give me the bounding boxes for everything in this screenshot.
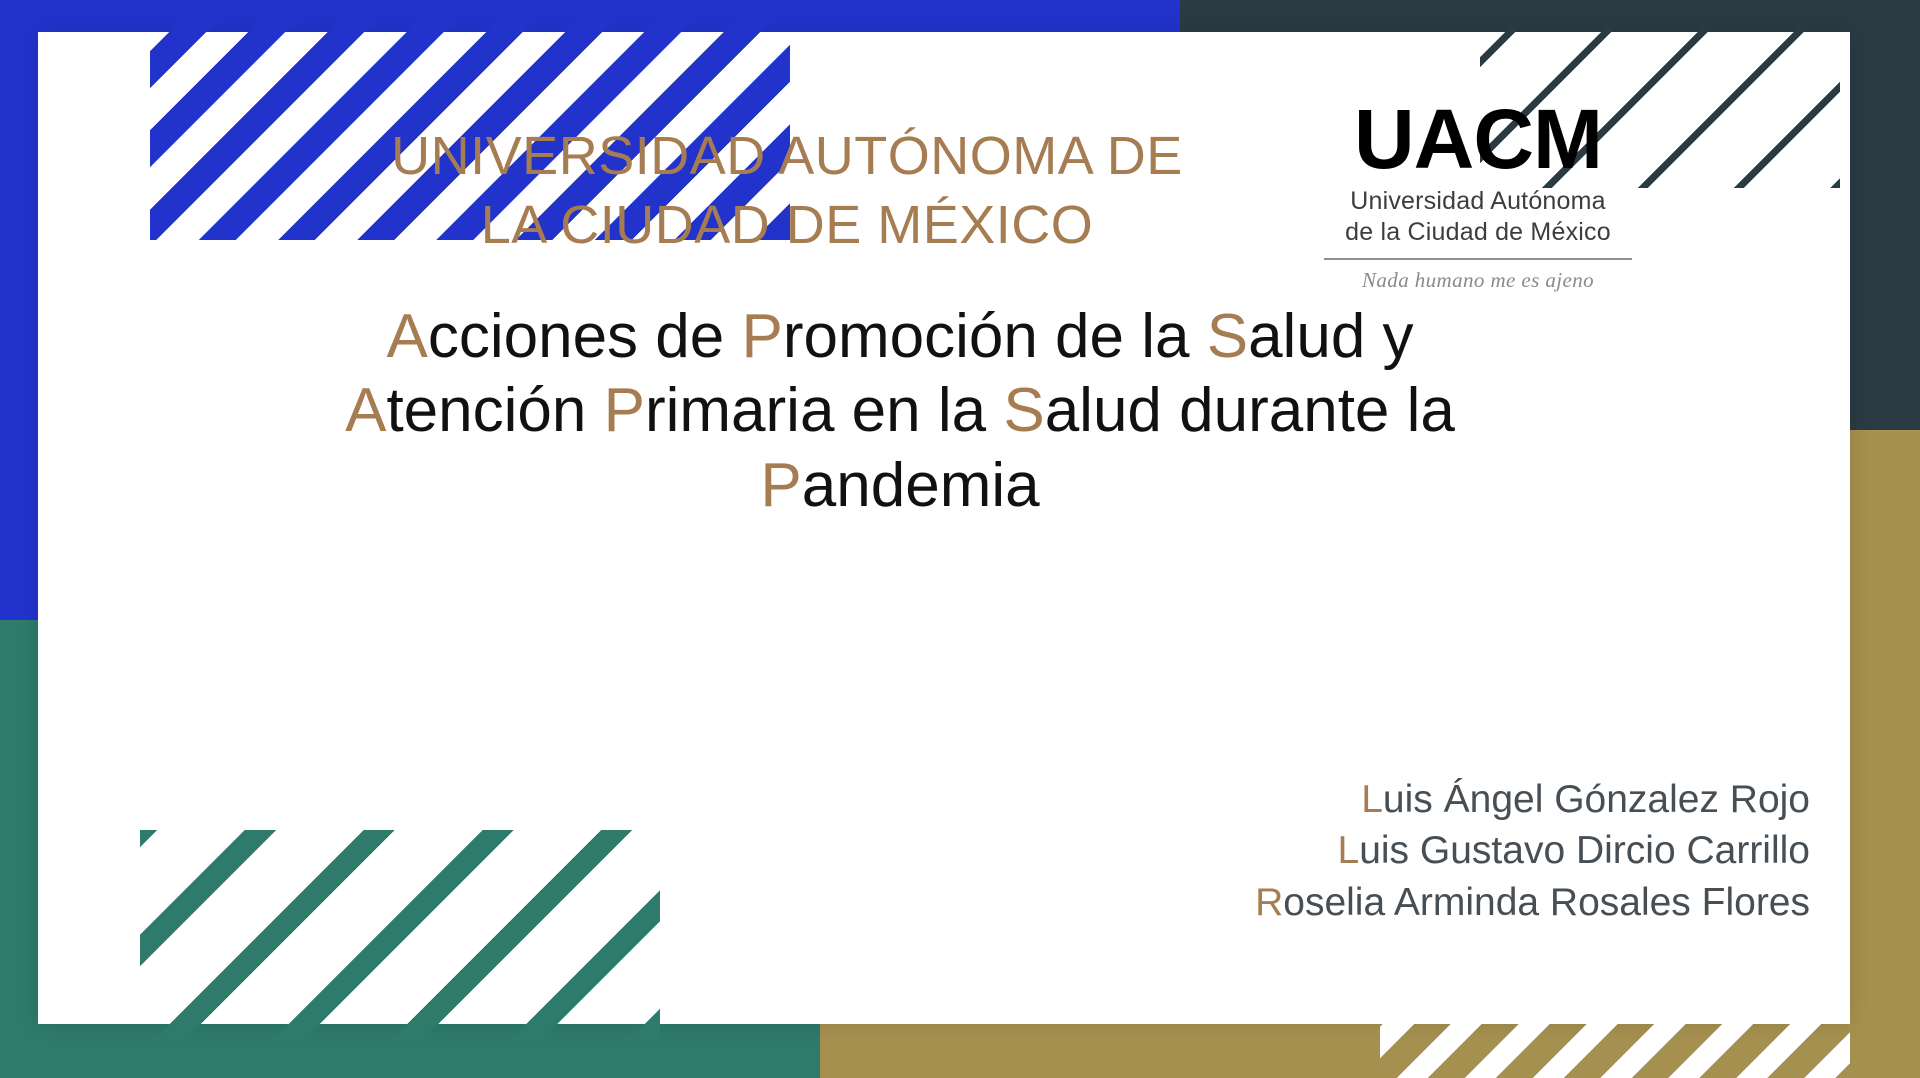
institution-name-line-2: LA CIUDAD DE MÉXICO [282,191,1292,260]
title-text-2b: rimaria en la [645,376,1003,445]
title-text-3a: andemia [802,451,1040,520]
title-cap-s2: S [1003,376,1044,445]
uacm-wordmark: UACM [1318,100,1638,180]
author-list: Luis Ángel Gónzalez Rojo Luis Gustavo Di… [1255,774,1810,928]
uacm-logo-subtitle-line-1: Universidad Autónoma [1318,186,1638,217]
uacm-motto: Nada humano me es ajeno [1318,268,1638,293]
title-cap-a2: A [345,376,386,445]
author-name: oselia Arminda Rosales Flores [1283,881,1810,924]
institution-name: UNIVERSIDAD AUTÓNOMA DE LA CIUDAD DE MÉX… [282,100,1292,260]
title-line-2: Atención Primaria en la Salud durante la [120,374,1680,448]
title-text-1c: alud y [1248,302,1413,371]
title-cap-p1: P [741,302,782,371]
title-text-2a: tención [386,376,603,445]
author-item: Luis Gustavo Dircio Carrillo [1255,825,1810,876]
slide-header: UNIVERSIDAD AUTÓNOMA DE LA CIUDAD DE MÉX… [0,100,1920,293]
slide-title: Acciones de Promoción de la Salud y Aten… [120,300,1680,523]
author-name: uis Ángel Gónzalez Rojo [1383,778,1810,821]
author-initial: R [1255,881,1283,924]
title-text-1a: cciones de [428,302,742,371]
author-initial: L [1338,829,1360,872]
title-cap-p2: P [604,376,645,445]
title-line-3: Pandemia [120,449,1680,523]
author-item: Luis Ángel Gónzalez Rojo [1255,774,1810,825]
uacm-logo-subtitle-line-2: de la Ciudad de México [1318,217,1638,248]
author-initial: L [1361,778,1383,821]
institution-name-line-1: UNIVERSIDAD AUTÓNOMA DE [282,122,1292,191]
author-item: Roselia Arminda Rosales Flores [1255,877,1810,928]
logo-divider [1324,258,1632,260]
title-text-2c: alud durante la [1045,376,1455,445]
title-line-1: Acciones de Promoción de la Salud y [120,300,1680,374]
title-text-1b: romoción de la [783,302,1207,371]
presentation-slide: UNIVERSIDAD AUTÓNOMA DE LA CIUDAD DE MÉX… [0,0,1920,1078]
uacm-logo: UACM Universidad Autónoma de la Ciudad d… [1318,100,1638,293]
uacm-logo-subtitle: Universidad Autónoma de la Ciudad de Méx… [1318,186,1638,249]
title-cap-s1: S [1207,302,1248,371]
title-cap-a1: A [386,302,427,371]
title-cap-p3: P [760,451,801,520]
author-name: uis Gustavo Dircio Carrillo [1359,829,1810,872]
